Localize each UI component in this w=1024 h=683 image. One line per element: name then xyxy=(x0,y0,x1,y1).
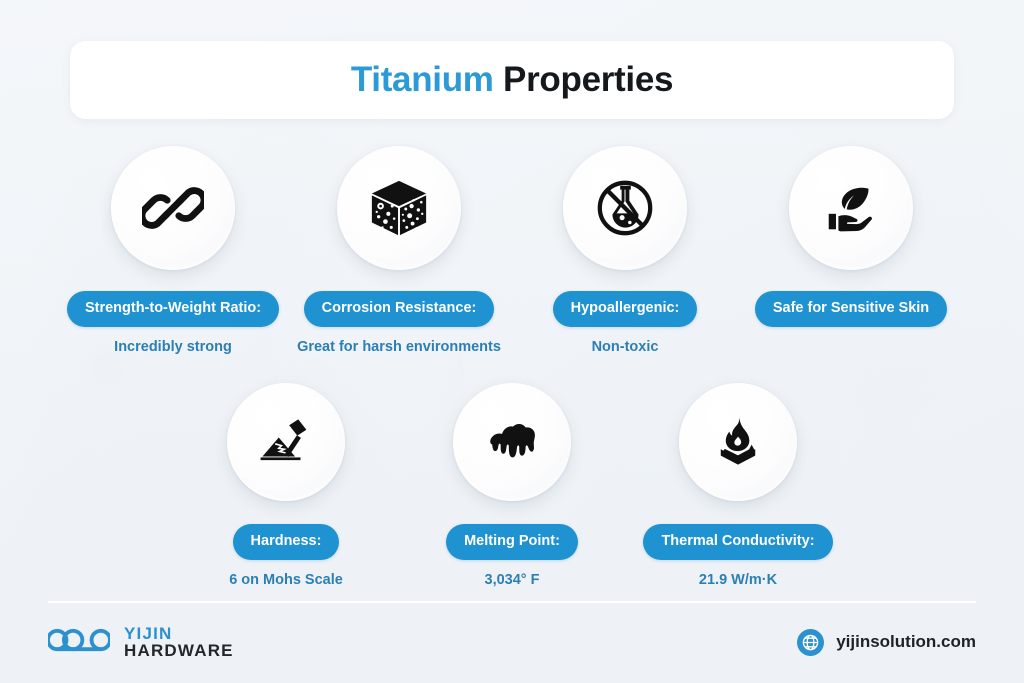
property-label: Melting Point: xyxy=(446,524,578,560)
website-link[interactable]: yijinsolution.com xyxy=(797,629,976,656)
property-value: Non-toxic xyxy=(592,340,659,355)
icon-bubble xyxy=(111,146,235,270)
property-label: Hypoallergenic: xyxy=(553,291,698,327)
infographic-poster: Titanium Properties Strength-to-Weight R… xyxy=(0,0,1024,683)
property-label: Thermal Conductivity: xyxy=(643,524,832,560)
icon-bubble xyxy=(563,146,687,270)
brand-name-bottom: HARDWARE xyxy=(124,642,234,660)
property-row-1: Strength-to-Weight Ratio: Incredibly str… xyxy=(0,146,1024,354)
property-row-2: Hardness: 6 on Mohs Scale Melting Point:… xyxy=(0,383,1024,587)
property-value: Great for harsh environments xyxy=(297,340,501,355)
property-value: 21.9 W/m·K xyxy=(699,573,777,588)
brand-logo: YIJIN HARDWARE xyxy=(48,623,234,662)
flame-heat-transfer-icon xyxy=(709,413,767,471)
property-card-hypoallergenic: Hypoallergenic: Non-toxic xyxy=(512,146,738,354)
property-label: Strength-to-Weight Ratio: xyxy=(67,291,279,327)
yijin-infinity-logo-icon xyxy=(48,623,110,662)
icon-bubble xyxy=(227,383,345,501)
no-chemicals-flask-icon xyxy=(594,177,656,239)
footer: YIJIN HARDWARE yijinsolution.com xyxy=(48,614,976,670)
icon-bubble xyxy=(337,146,461,270)
property-card-sensitive-skin: Safe for Sensitive Skin xyxy=(738,146,964,354)
icon-bubble xyxy=(789,146,913,270)
property-card-melting-point: Melting Point: 3,034° F xyxy=(399,383,625,587)
property-value: 3,034° F xyxy=(485,573,540,588)
property-value: Incredibly strong xyxy=(114,340,232,355)
property-label: Hardness: xyxy=(233,524,340,560)
page-title-accent: Titanium xyxy=(351,60,494,99)
property-label: Corrosion Resistance: xyxy=(304,291,495,327)
title-card: Titanium Properties xyxy=(70,41,954,119)
property-card-strength-to-weight: Strength-to-Weight Ratio: Incredibly str… xyxy=(60,146,286,354)
property-card-corrosion-resistance: Corrosion Resistance: Great for harsh en… xyxy=(286,146,512,354)
page-title: Titanium Properties xyxy=(351,60,673,100)
hammer-breaking-rock-icon xyxy=(257,413,315,471)
property-value: 6 on Mohs Scale xyxy=(229,573,343,588)
brand-name: YIJIN HARDWARE xyxy=(124,625,234,660)
property-card-thermal-conductivity: Thermal Conductivity: 21.9 W/m·K xyxy=(625,383,851,587)
melting-drip-icon xyxy=(483,413,541,471)
property-label: Safe for Sensitive Skin xyxy=(755,291,947,327)
icon-bubble xyxy=(679,383,797,501)
globe-icon xyxy=(797,629,824,656)
website-url-text: yijinsolution.com xyxy=(836,632,976,652)
corroded-cube-icon xyxy=(368,177,430,239)
brand-name-top: YIJIN xyxy=(124,625,234,643)
page-title-rest: Properties xyxy=(494,60,674,99)
icon-bubble xyxy=(453,383,571,501)
footer-divider xyxy=(48,601,976,603)
chain-link-icon xyxy=(142,177,204,239)
hand-holding-leaf-icon xyxy=(820,177,882,239)
property-card-hardness: Hardness: 6 on Mohs Scale xyxy=(173,383,399,587)
